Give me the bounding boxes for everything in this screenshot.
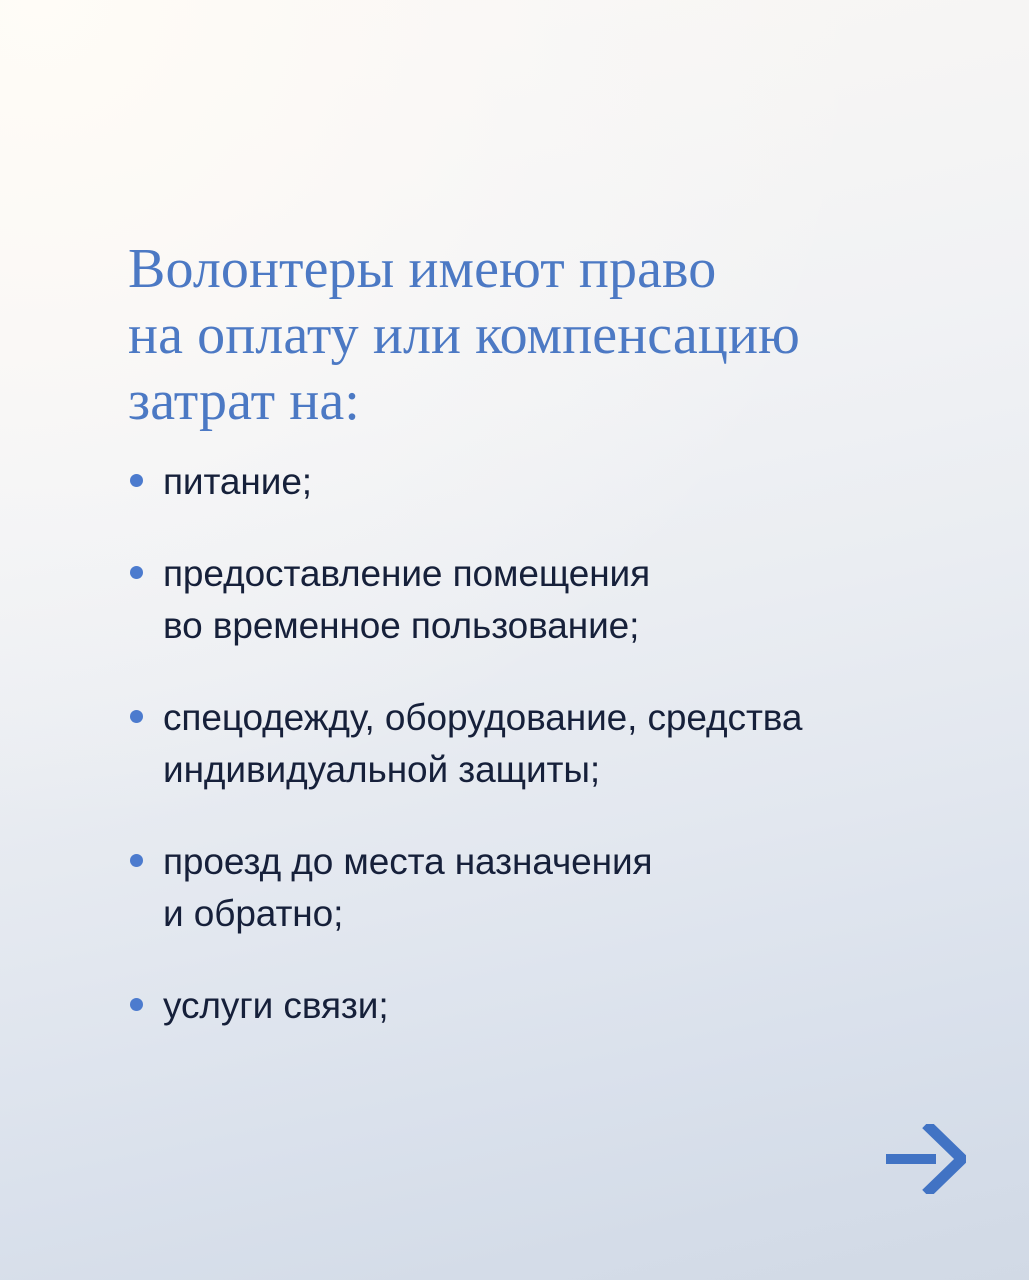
list-item-label: предоставление помещения во временное по…: [163, 548, 968, 652]
list-item: питание;: [128, 456, 968, 508]
bullet-dot-icon: [130, 710, 143, 723]
list-item: предоставление помещения во временное по…: [128, 548, 968, 652]
list-item: спецодежду, оборудование, средства индив…: [128, 692, 968, 796]
bullet-dot-icon: [130, 998, 143, 1011]
arrow-right-icon: [884, 1124, 966, 1194]
list-item: проезд до места назначения и обратно;: [128, 836, 968, 940]
bullet-dot-icon: [130, 566, 143, 579]
slide-heading: Волонтеры имеют право на оплату или комп…: [128, 236, 928, 434]
list-item-label: проезд до места назначения и обратно;: [163, 836, 968, 940]
list-item-label: питание;: [163, 456, 968, 508]
list-item: услуги связи;: [128, 980, 968, 1032]
next-slide-button[interactable]: [884, 1124, 966, 1194]
list-item-label: спецодежду, оборудование, средства индив…: [163, 692, 968, 796]
list-item-label: услуги связи;: [163, 980, 968, 1032]
bullet-dot-icon: [130, 474, 143, 487]
benefits-list: питание; предоставление помещения во вре…: [128, 456, 968, 1032]
bullet-dot-icon: [130, 854, 143, 867]
slide-canvas: Волонтеры имеют право на оплату или комп…: [0, 0, 1029, 1280]
